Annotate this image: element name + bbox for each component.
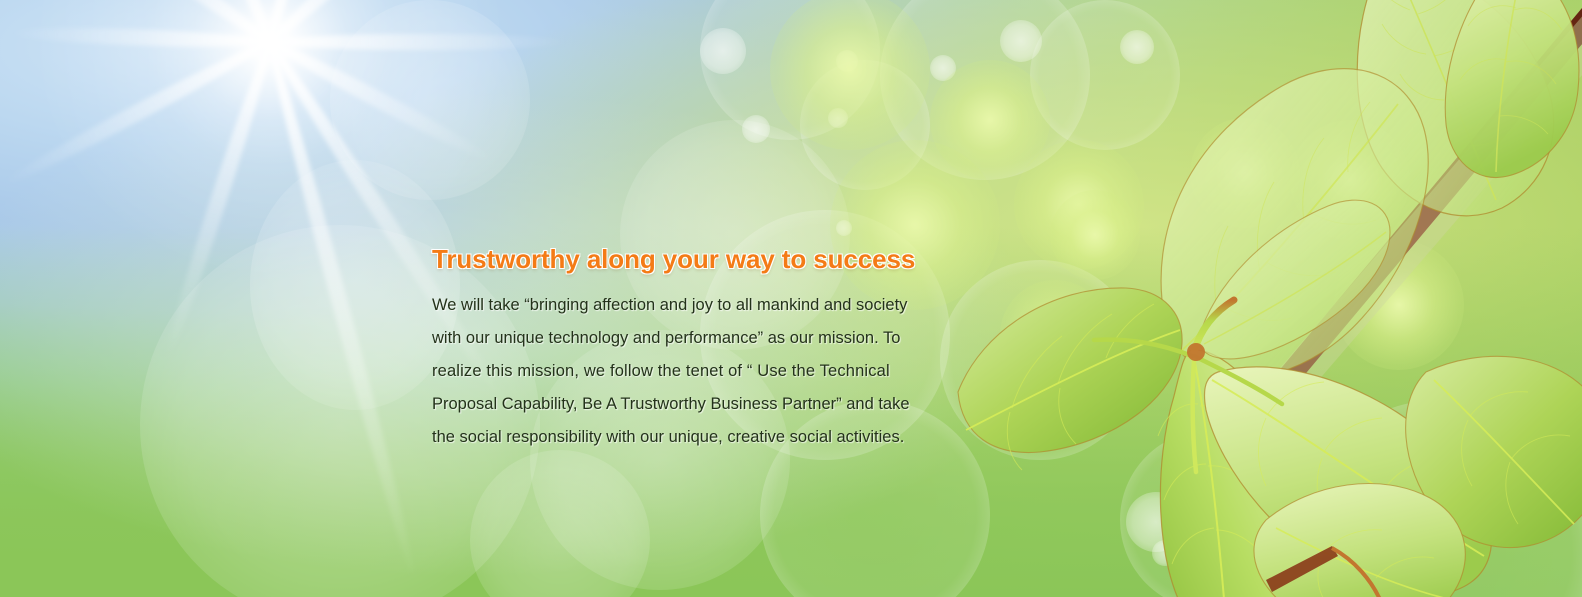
banner-paragraph: We will take “bringing affection and joy… — [432, 289, 962, 454]
leaf — [1445, 0, 1579, 178]
paragraph-line: Proposal Capability, Be A Trustworthy Bu… — [432, 388, 962, 421]
hero-banner: Trustworthy along your way to success We… — [0, 0, 1582, 597]
paragraph-line: We will take “bringing affection and joy… — [432, 289, 962, 322]
banner-copy: Trustworthy along your way to success We… — [432, 244, 962, 454]
page-title: Trustworthy along your way to success — [432, 244, 962, 275]
leaf — [958, 288, 1182, 470]
leaf-branch-illustration — [862, 0, 1582, 597]
paragraph-line: realize this mission, we follow the tene… — [432, 355, 962, 388]
paragraph-line: with our unique technology and performan… — [432, 322, 962, 355]
paragraph-line: the social responsibility with our uniqu… — [432, 421, 962, 454]
